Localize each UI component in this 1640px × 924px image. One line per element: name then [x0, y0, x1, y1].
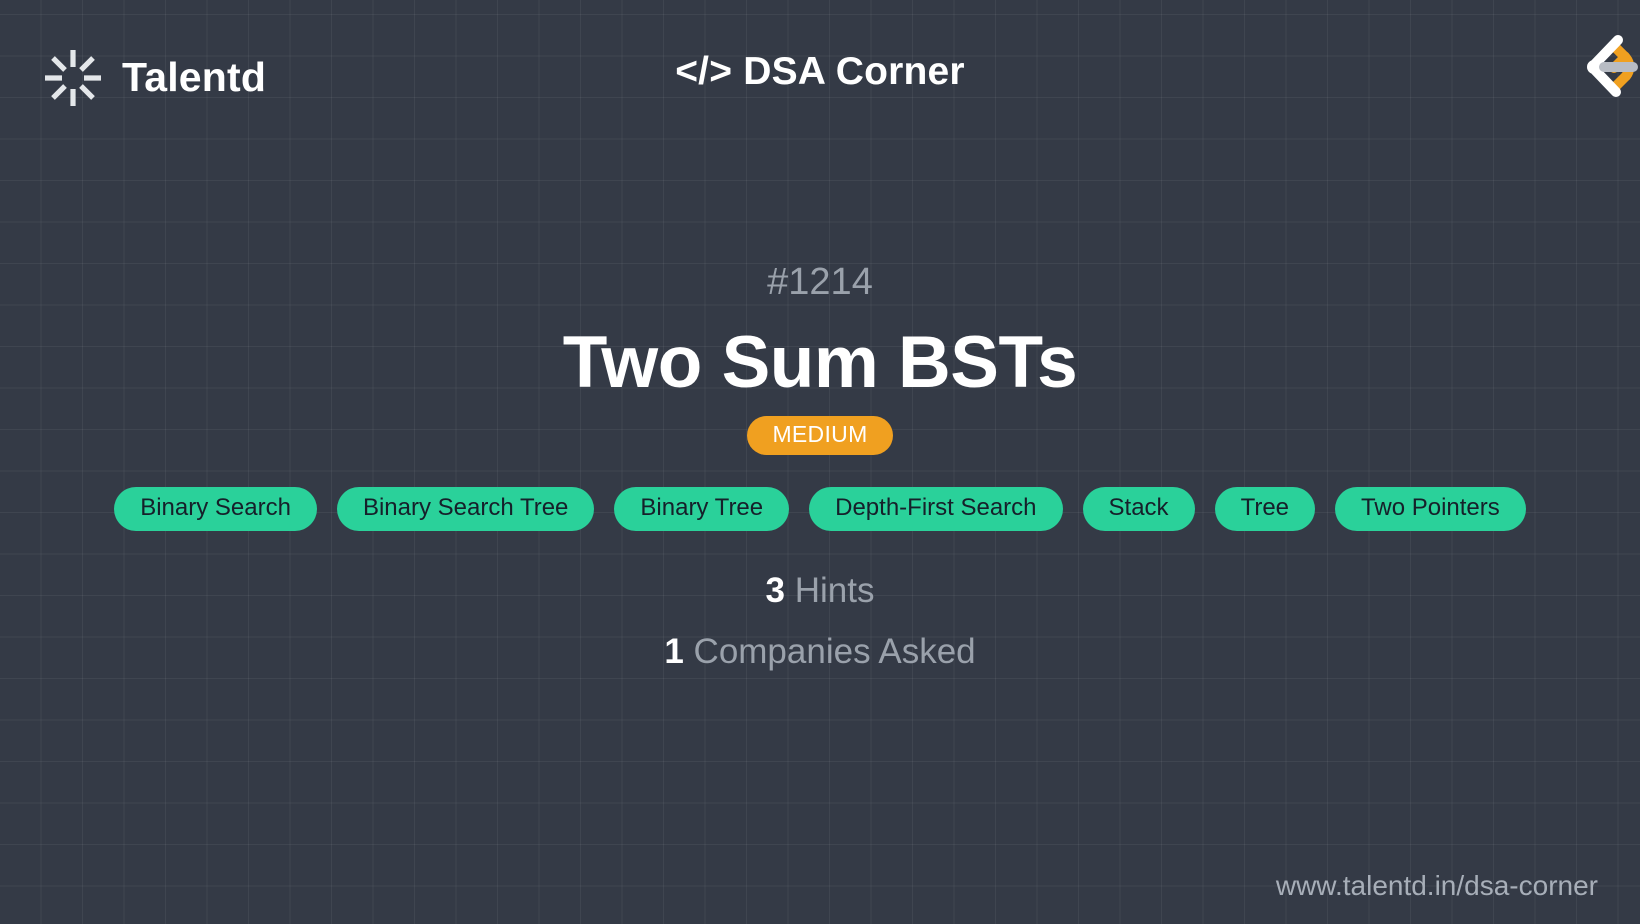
leetcode-logo-icon — [1560, 24, 1640, 110]
topic-tag[interactable]: Binary Search Tree — [337, 487, 594, 531]
topic-tag[interactable]: Tree — [1215, 487, 1315, 531]
problem-card: #1214 Two Sum BSTs MEDIUM Binary Search … — [0, 155, 1640, 924]
footer-url[interactable]: www.talentd.in/dsa-corner — [1276, 872, 1598, 900]
hints-count: 3 — [766, 571, 785, 610]
starburst-asterisk-icon — [42, 47, 104, 109]
topic-tag[interactable]: Stack — [1083, 487, 1195, 531]
hints-stat: 3 Hints — [766, 573, 875, 608]
brand-name: Talentd — [122, 57, 266, 98]
difficulty-badge: MEDIUM — [747, 416, 892, 455]
topic-tag-list: Binary Search Binary Search Tree Binary … — [114, 487, 1526, 531]
problem-title: Two Sum BSTs — [563, 325, 1077, 402]
topic-tag[interactable]: Binary Tree — [614, 487, 789, 531]
brand-logo[interactable]: Talentd — [42, 47, 266, 109]
topic-tag[interactable]: Depth-First Search — [809, 487, 1062, 531]
page-header: Talentd </> DSA Corner — [0, 0, 1640, 155]
companies-count: 1 — [664, 632, 683, 671]
companies-label: Companies Asked — [684, 632, 976, 671]
companies-stat: 1 Companies Asked — [664, 634, 975, 669]
problem-number: #1214 — [767, 263, 873, 301]
topic-tag[interactable]: Binary Search — [114, 487, 317, 531]
topic-tag[interactable]: Two Pointers — [1335, 487, 1526, 531]
hints-label: Hints — [785, 571, 874, 610]
